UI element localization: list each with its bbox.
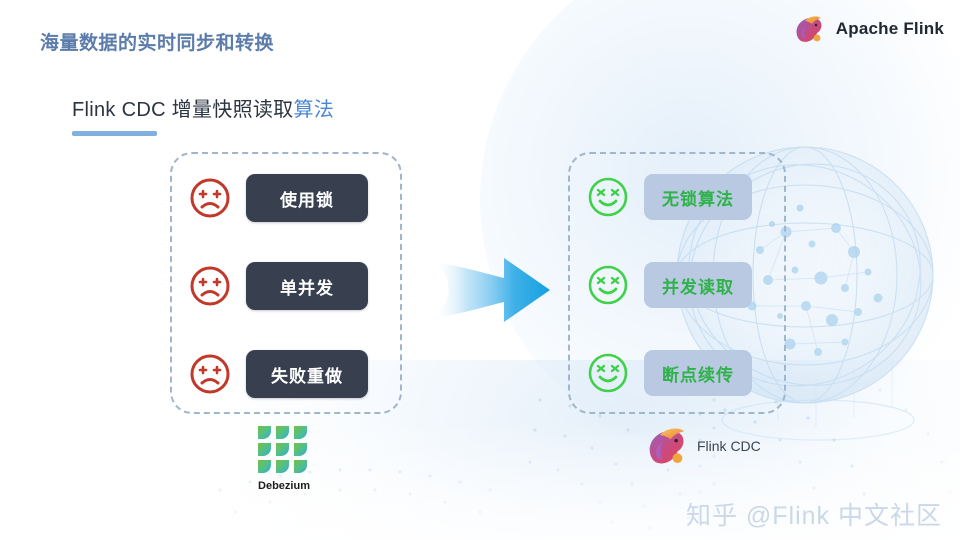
subtitle-main-text: Flink CDC 增量快照读取: [72, 99, 293, 121]
left-panel-drawbacks: 使用锁 单并发 失败重做: [170, 152, 402, 414]
debezium-logo-group: Debezium: [256, 424, 312, 492]
left-panel-row-1: 使用锁: [188, 174, 368, 222]
section-subtitle-group: Flink CDC 增量快照读取算法: [72, 93, 334, 136]
debezium-logo-icon: [256, 424, 312, 476]
left-chip-2[interactable]: 单并发: [246, 262, 368, 310]
right-arrow-gradient-icon: [432, 248, 550, 332]
flink-cdc-logo-group: Flink CDC: [645, 425, 761, 467]
sad-face-icon: [188, 176, 232, 220]
left-panel-row-2: 单并发: [188, 262, 368, 310]
brand-logo-group: Apache Flink: [793, 14, 944, 44]
debezium-label: Debezium: [258, 480, 310, 492]
left-panel-row-3: 失败重做: [188, 350, 368, 398]
brand-name-label: Apache Flink: [836, 19, 944, 39]
happy-face-icon: [586, 263, 630, 307]
right-chip-3[interactable]: 断点续传: [644, 350, 752, 396]
right-panel-row-2: 并发读取: [586, 262, 752, 308]
happy-face-icon: [586, 351, 630, 395]
sad-face-icon: [188, 352, 232, 396]
right-panel-row-3: 断点续传: [586, 350, 752, 396]
flink-cdc-squirrel-logo-icon: [645, 425, 691, 467]
page-title: 海量数据的实时同步和转换: [40, 28, 274, 55]
left-chip-3[interactable]: 失败重做: [246, 350, 368, 398]
subtitle-underline-bar: [72, 131, 157, 136]
right-panel-benefits: 无锁算法 并发读取 断点续传: [568, 152, 786, 414]
subtitle-highlight-text: 算法: [293, 99, 334, 121]
apache-flink-squirrel-logo-icon: [793, 14, 827, 44]
flink-cdc-label: Flink CDC: [697, 438, 761, 454]
right-chip-1[interactable]: 无锁算法: [644, 174, 752, 220]
right-panel-row-1: 无锁算法: [586, 174, 752, 220]
happy-face-icon: [586, 175, 630, 219]
watermark-text: 知乎 @Flink 中文社区: [686, 496, 942, 532]
left-chip-1[interactable]: 使用锁: [246, 174, 368, 222]
sad-face-icon: [188, 264, 232, 308]
section-subtitle: Flink CDC 增量快照读取算法: [72, 93, 334, 122]
slide-canvas: 海量数据的实时同步和转换 Apache Flink Flink CDC 增量快照…: [0, 0, 960, 540]
right-chip-2[interactable]: 并发读取: [644, 262, 752, 308]
